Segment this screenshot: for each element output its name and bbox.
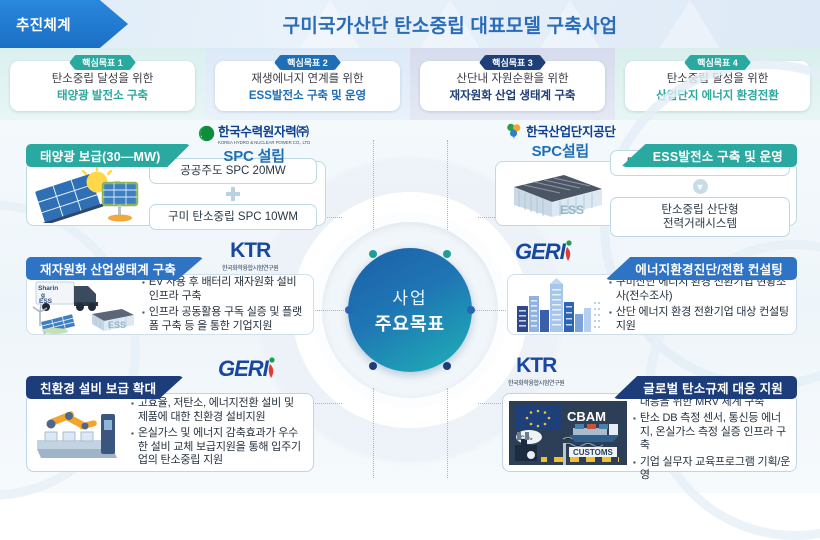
panel-ess-logo: 한국산업단지공단 SPC설립 bbox=[505, 121, 616, 161]
panel-recycle: 재자원화 산업생태계 구축 KTR 한국화학융합시험연구원 Sharin g E… bbox=[26, 257, 314, 335]
goal-column-3: 산단내 자원순환을 위한 재자원화 산업 생태계 구축 핵심목표 3 bbox=[410, 48, 615, 120]
svg-text:ESS: ESS bbox=[108, 320, 126, 330]
connector-node bbox=[369, 250, 377, 258]
panel-consulting-logo: GERI bbox=[515, 239, 575, 265]
bullet-item: ▪ 탄소 DB 측정 센서, 통신등 에너지, 온실가스 측정 실증 인프라 구… bbox=[633, 412, 792, 453]
panel-consulting-box: ▪ 구미산단 에너지 환경 전환기업 현황조사(전수조사) ▪ 산단 에너지 환… bbox=[507, 274, 797, 335]
solar-panel-sun-icon bbox=[31, 165, 149, 223]
panel-consulting-tab-text: 에너지환경진단/전환 컨설팅 bbox=[635, 259, 783, 278]
panel-recycle-tab-text: 재자원화 산업생태계 구축 bbox=[40, 259, 176, 278]
panel-solar-cards: 공공주도 SPC 20MW 구미 탄소중립 SPC 10WM bbox=[149, 155, 325, 233]
center-line1: 사업 bbox=[392, 284, 427, 309]
section-tab-text: 추진체계 bbox=[16, 14, 71, 35]
panel-carbonreg: 글로벌 탄소규제 대응 지원 KTR 한국화학융합시험연구원 bbox=[502, 376, 797, 472]
logo-kicox: 한국산업단지공단 bbox=[505, 121, 616, 140]
panel-recycle-box: Sharin g ESS bbox=[26, 274, 314, 335]
logo-geri: GERI bbox=[515, 239, 575, 265]
goal-column-1: 탄소중립 달성을 위한 태양광 발전소 구축 핵심목표 1 bbox=[0, 48, 205, 120]
goal-3-line1: 산단내 자원순환을 위한 bbox=[456, 70, 568, 86]
bullet-text: 고효율, 저탄소, 에너지전환 설비 및 제품에 대한 친환경 설비지원 bbox=[138, 397, 306, 424]
bullet-marker: ▪ bbox=[131, 427, 134, 441]
page-title-text: 구미국가산단 탄소중립 대표모델 구축사업 bbox=[283, 11, 618, 38]
panel-solar-tab: 태양광 보급(30―MW) bbox=[26, 144, 191, 167]
panel-ess-box: ESS 50MWh 이상 ESS발전소 구축 ▼ 탄소중립 산단형 전력거래시스… bbox=[495, 161, 797, 226]
cargo-ship-icon bbox=[569, 424, 619, 442]
panel-ess-spc-label: SPC설립 bbox=[532, 140, 589, 161]
panel-ecofacility-bullets: ▪ 고효율, 저탄소, 에너지전환 설비 및 제품에 대한 친환경 설비지원 ▪… bbox=[127, 393, 313, 472]
bullet-marker: ▪ bbox=[142, 306, 145, 320]
bullet-marker: ▪ bbox=[131, 397, 134, 411]
geri-flame-icon bbox=[266, 356, 278, 380]
panel-solar-spc-label: SPC 설립 bbox=[223, 145, 284, 166]
logo-ktr-name: KTR bbox=[230, 239, 270, 263]
bullet-item: ▪ 산단 에너지 환경 전환기업 대상 컨설팅 지원 bbox=[609, 306, 789, 333]
bullet-marker: ▪ bbox=[633, 456, 636, 470]
chevron-down-icon: ▼ bbox=[693, 179, 708, 194]
bullet-item: ▪ 온실가스 및 에너지 감축효과가 우수한 설비 교체 보급지원을 통해 입주… bbox=[131, 427, 306, 468]
logo-khnp-name: 한국수력원자력㈜ bbox=[218, 121, 310, 140]
logo-ktr-sub: 한국화학융합시험연구원 bbox=[222, 263, 278, 272]
bullet-item: ▪ 고효율, 저탄소, 에너지전환 설비 및 제품에 대한 친환경 설비지원 bbox=[131, 397, 306, 424]
bullet-text: 탄소 DB 측정 센서, 통신등 에너지, 온실가스 측정 실증 인프라 구축 bbox=[640, 412, 792, 453]
goal-badge-1: 핵심목표 1 bbox=[69, 55, 136, 70]
goal-1-line1: 탄소중립 달성을 위한 bbox=[52, 70, 154, 86]
robot-arm-icon bbox=[47, 410, 98, 429]
connector-node bbox=[443, 250, 451, 258]
panel-solar-logo: 한국수력원자력㈜ KOREA HYDRO & NUCLEAR POWER CO.… bbox=[198, 121, 310, 166]
bullet-item: ▪ 인프라 공동활용 구독 실증 및 플랫폼 구축 등 을 통한 기업지원 bbox=[142, 306, 306, 333]
connector-node bbox=[369, 362, 377, 370]
bullet-text: 산단 에너지 환경 전환기업 대상 컨설팅 지원 bbox=[616, 306, 789, 333]
goal-badge-3: 핵심목표 3 bbox=[479, 55, 546, 70]
svg-text:Sharin: Sharin bbox=[38, 285, 58, 292]
infographic-root: 구미국가산단 탄소중립 대표모델 구축사업 추진체계 탄소중립 달성을 위한 태… bbox=[0, 0, 820, 493]
logo-khnp-textblock: 한국수력원자력㈜ KOREA HYDRO & NUCLEAR POWER CO.… bbox=[218, 121, 310, 145]
bullet-marker: ▪ bbox=[633, 412, 636, 426]
panel-ecofacility-tab-text: 친환경 설비 보급 확대 bbox=[40, 378, 156, 397]
connector-line bbox=[447, 140, 448, 230]
logo-khnp: 한국수력원자력㈜ KOREA HYDRO & NUCLEAR POWER CO.… bbox=[198, 121, 310, 145]
logo-geri-name: GERI bbox=[515, 239, 565, 265]
panel-ecofacility-box: ▪ 고효율, 저탄소, 에너지전환 설비 및 제품에 대한 친환경 설비지원 ▪… bbox=[26, 393, 314, 472]
goal-badge-4: 핵심목표 4 bbox=[684, 55, 751, 70]
logo-ktr-sub: 한국화학융합시험연구원 bbox=[508, 378, 564, 387]
panel-recycle-bullets: ▪ EV 사용 후 배터리 재자원화 설비 인프라 구축 ▪ 인프라 공동활용 … bbox=[138, 272, 313, 337]
factory-robot-arm-icon bbox=[31, 400, 127, 466]
goal-column-2: 재생에너지 연계를 위한 ESS발전소 구축 및 운영 핵심목표 2 bbox=[205, 48, 410, 120]
logo-geri-name: GERI bbox=[218, 356, 268, 382]
goal-2-line1: 재생에너지 연계를 위한 bbox=[251, 70, 363, 86]
goal-badge-1-text: 핵심목표 1 bbox=[82, 56, 123, 69]
geri-flame-icon bbox=[563, 239, 575, 263]
panel-consulting-bullets: ▪ 구미산단 에너지 환경 전환기업 현황조사(전수조사) ▪ 산단 에너지 환… bbox=[605, 272, 796, 337]
panel-solar: 태양광 보급(30―MW) 한국수력원자력㈜ KOREA HYDRO & NUC… bbox=[26, 144, 326, 226]
panel-carbonreg-box: CBAM CO₂ bbox=[502, 393, 797, 472]
customs-label: CUSTOMS bbox=[573, 448, 614, 457]
truck-solar-wind-icon: Sharin g ESS bbox=[30, 276, 138, 334]
cbam-label: CBAM bbox=[567, 409, 606, 424]
ess-container-icon: ESS bbox=[502, 165, 610, 223]
cbam-customs-ship-icon: CBAM CO₂ bbox=[507, 399, 629, 467]
connector-node bbox=[443, 362, 451, 370]
goal-2-line2: ESS발전소 구축 및 운영 bbox=[249, 87, 366, 103]
logo-ktr-name: KTR bbox=[516, 354, 556, 378]
panel-carbonreg-logo: KTR 한국화학융합시험연구원 bbox=[508, 354, 564, 387]
city-buildings-icon bbox=[513, 276, 605, 334]
connector-line bbox=[447, 388, 448, 478]
panel-ess-tab-text: ESS발전소 구축 및 운영 bbox=[653, 146, 783, 165]
kicox-mark-icon bbox=[505, 122, 523, 140]
bullet-text: 인프라 공동활용 구독 실증 및 플랫폼 구축 등 을 통한 기업지원 bbox=[149, 306, 306, 333]
panel-recycle-tab: 재자원화 산업생태계 구축 bbox=[26, 257, 204, 280]
panel-consulting-tab: 에너지환경진단/전환 컨설팅 bbox=[605, 257, 797, 280]
bullet-text: 온실가스 및 에너지 감축효과가 우수한 설비 교체 보급지원을 통해 입주기업… bbox=[138, 427, 306, 468]
goal-badge-2-text: 핵심목표 2 bbox=[287, 56, 328, 69]
connector-node bbox=[467, 306, 475, 314]
panel-carbonreg-tab-text: 글로벌 탄소규제 대응 지원 bbox=[643, 378, 783, 397]
logo-kicox-name: 한국산업단지공단 bbox=[526, 121, 616, 140]
page-header: 구미국가산단 탄소중립 대표모델 구축사업 추진체계 bbox=[0, 0, 820, 48]
panel-ecofacility: 친환경 설비 보급 확대 GERI bbox=[26, 376, 314, 472]
panel-carbonreg-tab: 글로벌 탄소규제 대응 지원 bbox=[613, 376, 797, 399]
goal-badge-4-text: 핵심목표 4 bbox=[697, 56, 738, 69]
goal-badge-3-text: 핵심목표 3 bbox=[492, 56, 533, 69]
panel-ecofacility-logo: GERI bbox=[218, 356, 278, 382]
diagram-body: 사업 주요목표 태양광 보급(30―MW) 한국수력 bbox=[0, 120, 820, 493]
goal-badge-2: 핵심목표 2 bbox=[274, 55, 341, 70]
plus-icon bbox=[226, 187, 240, 201]
connector-line bbox=[373, 140, 374, 230]
connector-node bbox=[345, 306, 353, 314]
panel-ess-tab: ESS발전소 구축 및 운영 bbox=[621, 144, 797, 167]
bullet-item: ▪ 구미산단 에너지 환경 전환기업 현황조사(전수조사) bbox=[609, 276, 789, 303]
center-goal-circle: 사업 주요목표 bbox=[348, 248, 472, 372]
center-line2: 주요목표 bbox=[375, 310, 445, 336]
bullet-text: 기업 실무자 교육프로그램 기획/운영 bbox=[640, 456, 792, 483]
panel-solar-card-2: 구미 탄소중립 SPC 10WM bbox=[149, 204, 317, 230]
goal-3-line2: 재자원화 산업 생태계 구축 bbox=[450, 87, 576, 103]
bullet-text: 구미산단 에너지 환경 전환기업 현황조사(전수조사) bbox=[616, 276, 789, 303]
connector-line bbox=[373, 388, 374, 478]
ess-illustration-label: ESS bbox=[560, 203, 584, 217]
panel-ess: ESS발전소 구축 및 운영 한국산업단지공단 SPC설립 bbox=[495, 144, 797, 226]
khnp-mark-icon bbox=[198, 125, 215, 142]
panel-solar-box: 공공주도 SPC 20MW 구미 탄소중립 SPC 10WM bbox=[26, 161, 326, 226]
panel-solar-tab-text: 태양광 보급(30―MW) bbox=[40, 146, 161, 165]
panel-consulting: 에너지환경진단/전환 컨설팅 GERI bbox=[507, 257, 797, 335]
panel-ecofacility-tab: 친환경 설비 보급 확대 bbox=[26, 376, 184, 399]
bullet-marker: ▪ bbox=[609, 306, 612, 320]
bullet-item: ▪ 기업 실무자 교육프로그램 기획/운영 bbox=[633, 456, 792, 483]
bullet-text: EV 사용 후 배터리 재자원화 설비 인프라 구축 bbox=[149, 276, 306, 303]
goal-1-line2: 태양광 발전소 구축 bbox=[57, 87, 148, 103]
panel-ess-card-2: 탄소중립 산단형 전력거래시스템 bbox=[610, 197, 790, 237]
bullet-item: ▪ EV 사용 후 배터리 재자원화 설비 인프라 구축 bbox=[142, 276, 306, 303]
logo-geri: GERI bbox=[218, 356, 278, 382]
panel-recycle-logo: KTR 한국화학융합시험연구원 bbox=[222, 239, 278, 272]
